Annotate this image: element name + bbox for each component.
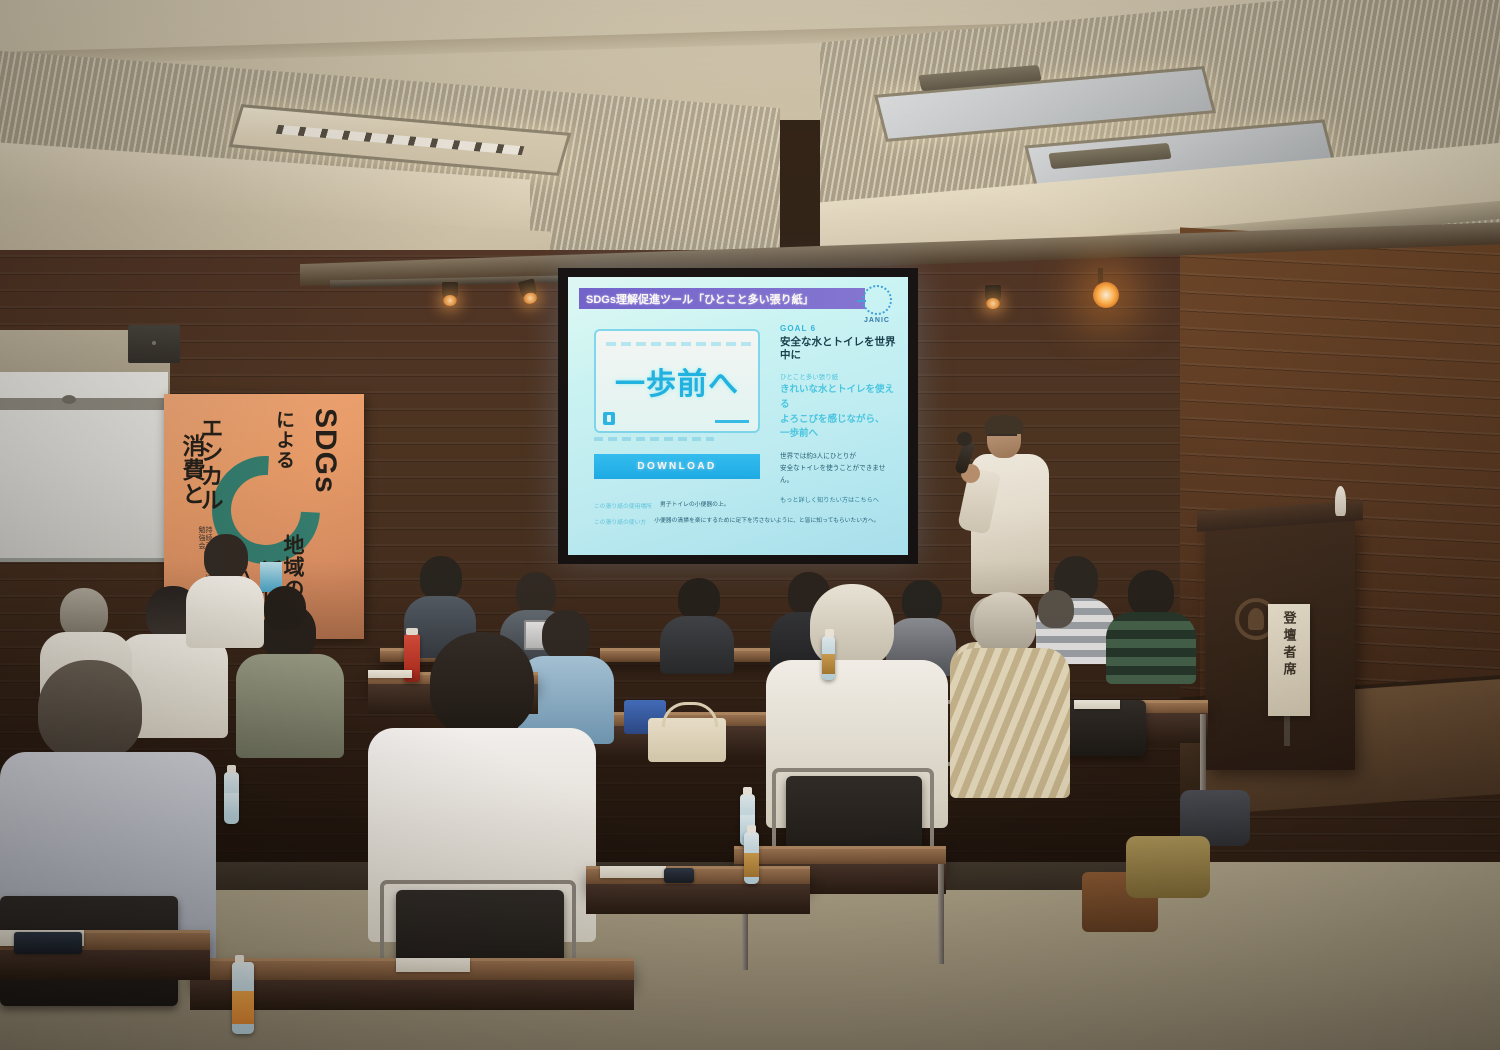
desk-skirt — [0, 950, 210, 980]
spotlight-icon-3 — [985, 285, 1001, 303]
slide-footer: この張り紙の使用場所 男子トイレの小便器の上。 この張り紙の使い方 小便器の清掃… — [594, 501, 894, 533]
attendee-head — [430, 632, 534, 736]
poster-microtext — [606, 342, 752, 346]
attendee-head — [420, 556, 462, 600]
podium-microphone-icon — [1335, 486, 1346, 516]
banner-line-consumption: 消費と — [180, 434, 203, 506]
attendee — [950, 592, 1070, 792]
glasses-icon — [987, 434, 1017, 440]
attendee-head — [204, 534, 248, 580]
poster-preview-card: 一歩前へ — [594, 329, 760, 433]
attendee-head — [516, 572, 556, 614]
microphone-head-icon — [957, 432, 972, 446]
footer-key: この張り紙の使用場所 — [594, 501, 652, 510]
lecture-hall-photo: エシカル 消費と による SDGs 地域の 活性 私たち 持続可能な地域づくりの… — [0, 0, 1500, 1050]
banner-line-niyoru: による — [274, 410, 293, 470]
attendee-torso — [1106, 612, 1196, 684]
bottle-label — [744, 853, 759, 877]
bottle-label — [224, 793, 239, 817]
spotlight-icon-1 — [442, 282, 458, 300]
attendee-head — [974, 592, 1036, 654]
handout-papers — [396, 958, 470, 972]
smartphone[interactable] — [664, 868, 694, 883]
desk-leg — [938, 864, 944, 964]
goal-subtitle: ひとこと多い張り紙 — [780, 371, 898, 381]
footer-value: 男子トイレの小便器の上。 — [660, 501, 730, 510]
banner-line-sdgs: SDGs — [310, 408, 340, 494]
attendee-head — [60, 588, 108, 638]
speaker-seat-sign: 登壇者席 — [1268, 604, 1310, 716]
sign-stand — [1284, 712, 1290, 746]
desk-leg — [1200, 714, 1206, 792]
warm-spotlight-glow — [1093, 282, 1119, 308]
poster-headline: 一歩前へ — [615, 359, 739, 403]
attendee-torso — [660, 616, 734, 674]
speaker-seat-sign-text: 登壇者席 — [1280, 611, 1299, 716]
attendee-head — [678, 578, 720, 620]
poster-badge-icon — [603, 412, 615, 425]
attendee-head — [38, 660, 142, 760]
tea-bottle — [232, 962, 254, 1034]
goal-title: 安全な水とトイレを世界中に — [780, 336, 898, 362]
attendee-torso — [950, 648, 1070, 798]
goal-body-text: 世界では約3人にひとりが 安全なトイレを使うことができません。 — [780, 451, 898, 487]
janic-logo-text: JANIC — [864, 317, 890, 324]
whiteboard-rail — [0, 398, 168, 410]
presenter-hair — [985, 415, 1023, 434]
tea-bottle — [822, 636, 835, 680]
handout-papers — [1074, 700, 1120, 709]
desk-skirt — [586, 884, 810, 914]
presentation-slide: SDGs理解促進ツール「ひとこと多い張り紙」 JANIC 一歩前へ DOWNLO… — [568, 277, 908, 555]
attendee-head — [264, 586, 306, 630]
goal-label: GOAL 6 — [780, 324, 898, 333]
download-button[interactable]: DOWNLOAD — [594, 454, 760, 479]
tote-bag — [648, 718, 726, 762]
download-button-label: DOWNLOAD — [637, 461, 716, 472]
bottle-label — [822, 654, 835, 674]
slide-text-column: GOAL 6 安全な水とトイレを世界中に ひとこと多い張り紙 きれいな水とトイレ… — [780, 324, 898, 506]
light-lamp-row — [276, 125, 525, 155]
wall-speaker-icon — [128, 325, 180, 363]
desk — [734, 846, 946, 868]
footer-row: この張り紙の使用場所 男子トイレの小便器の上。 — [594, 501, 894, 510]
bottle-label — [232, 991, 254, 1024]
janic-ring-icon — [862, 285, 892, 315]
janic-logo: JANIC — [854, 285, 900, 329]
tea-bottle — [744, 832, 759, 884]
footer-value: 小便器の清掃を楽にするために足下を汚さないように、と皆に知ってもらいたい方へ。 — [654, 517, 879, 526]
attendee-head — [1128, 570, 1174, 616]
slide-header-bar: SDGs理解促進ツール「ひとこと多い張り紙」 — [579, 288, 865, 309]
attendee — [660, 578, 734, 668]
poster-caption-line — [594, 437, 714, 441]
whiteboard-knob — [62, 395, 76, 404]
poster-url-line — [715, 420, 749, 423]
footer-row: この張り紙の使い方 小便器の清掃を楽にするために足下を汚さないように、と皆に知っ… — [594, 517, 894, 526]
projection-screen: SDGs理解促進ツール「ひとこと多い張り紙」 JANIC 一歩前へ DOWNLO… — [558, 268, 918, 564]
footer-key: この張り紙の使い方 — [594, 517, 646, 526]
desk-skirt — [190, 980, 634, 1010]
water-bottle — [224, 772, 239, 824]
attendee — [1106, 570, 1196, 680]
attendee — [250, 586, 320, 676]
smartphone[interactable] — [14, 932, 82, 954]
slide-header-title: SDGs理解促進ツール「ひとこと多い張り紙」 — [586, 291, 814, 307]
olive-bag — [1126, 836, 1210, 898]
goal-poem: きれいな水とトイレを使える よろこびを感じながら、 一歩前へ — [780, 383, 898, 442]
handout-papers — [600, 866, 666, 878]
